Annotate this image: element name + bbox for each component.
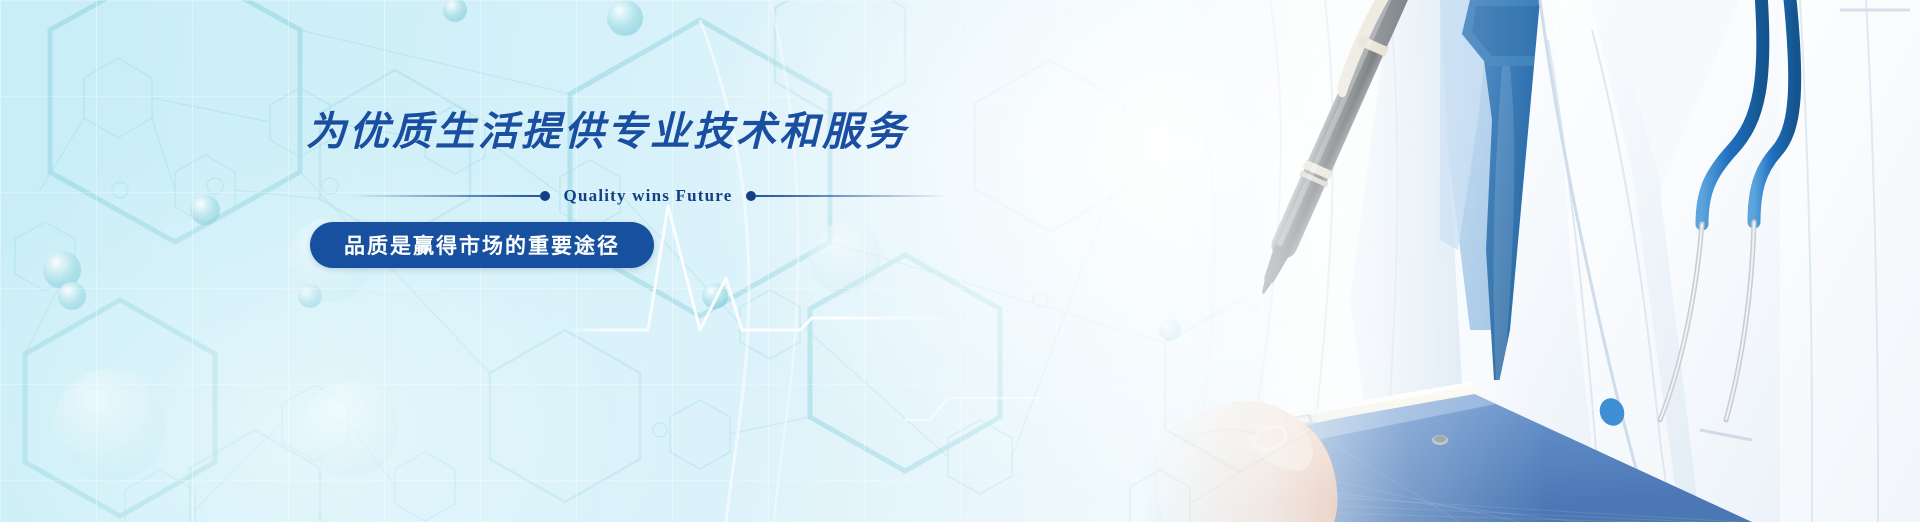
subtitle-dot-right: [746, 191, 756, 201]
subtitle-row: Quality wins Future: [348, 186, 948, 206]
page-title: 为优质生活提供专业技术和服务: [306, 112, 1000, 152]
subtitle-dot-left: [540, 191, 550, 201]
doctor-photo: [1140, 0, 1920, 522]
tagline-pill-button[interactable]: 品质是赢得市场的重要途径: [310, 222, 654, 268]
subtitle-english: Quality wins Future: [550, 186, 747, 206]
banner-content: 为优质生活提供专业技术和服务 Quality wins Future 品质是赢得…: [300, 112, 1000, 268]
hero-banner: 为优质生活提供专业技术和服务 Quality wins Future 品质是赢得…: [0, 0, 1920, 522]
tagline-pill-label: 品质是赢得市场的重要途径: [344, 230, 620, 260]
subtitle-rule-left: [348, 195, 540, 197]
subtitle-rule-right: [756, 195, 948, 197]
